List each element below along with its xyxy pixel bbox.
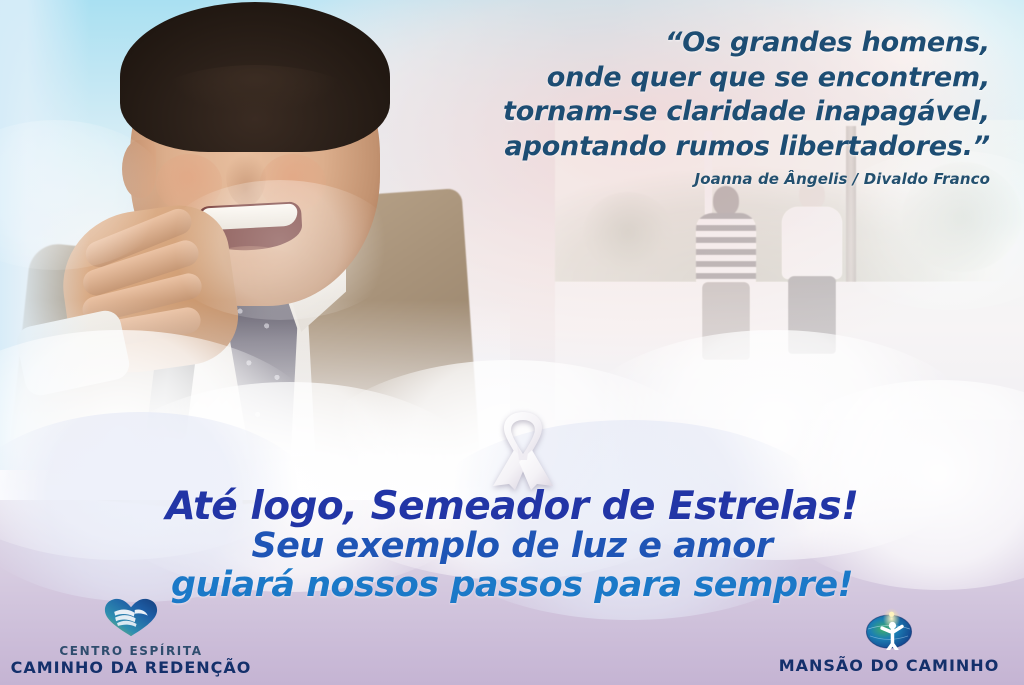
hair (120, 2, 390, 152)
headline-message: Até logo, Semeador de Estrelas! Seu exem… (0, 486, 1024, 604)
quote-line-4: apontando rumos libertadores.” (430, 130, 990, 165)
quote-attribution: Joanna de Ângelis / Divaldo Franco (430, 170, 990, 188)
headline-line-2: Seu exemplo de luz e amor (0, 527, 1024, 566)
logo-centro-espirita-caminho-da-redencao: CENTRO ESPÍRITA CAMINHO DA REDENÇÃO (6, 597, 256, 677)
logo-left-line-2: CAMINHO DA REDENÇÃO (6, 659, 256, 677)
logo-right-line-1: MANSÃO DO CAMINHO (764, 657, 1014, 675)
logo-mansao-do-caminho: MANSÃO DO CAMINHO (764, 608, 1014, 675)
logo-left-line-1: CENTRO ESPÍRITA (6, 645, 256, 659)
quote-text: “Os grandes homens, onde quer que se enc… (430, 26, 990, 164)
background-photo-two-people-walking (555, 120, 1024, 420)
headline-line-1: Até logo, Semeador de Estrelas! (0, 486, 1024, 527)
memorial-poster: “Os grandes homens, onde quer que se enc… (0, 0, 1024, 685)
heart-with-clasped-hands-logo-icon (6, 597, 256, 642)
quote-line-2: onde quer que se encontrem, (430, 61, 990, 96)
globe-with-figure-reaching-light-logo-icon (764, 608, 1014, 654)
white-mourning-ribbon-icon (483, 404, 563, 490)
portrait-divaldo-franco (10, 0, 480, 470)
quote-line-1: “Os grandes homens, (430, 26, 990, 61)
quote-line-3: tornam-se claridade inapagável, (430, 95, 990, 130)
